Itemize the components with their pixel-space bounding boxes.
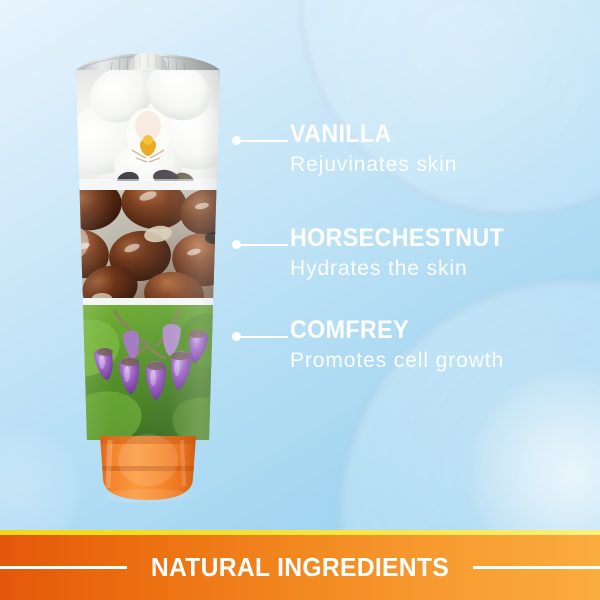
callout-text-vanilla: VANILLA Rejuvinates skin bbox=[290, 122, 457, 178]
callout-title: VANILLA bbox=[290, 122, 446, 148]
callout-desc: Promotes cell growth bbox=[290, 348, 504, 374]
tube-body bbox=[62, 53, 234, 458]
product-tube bbox=[62, 48, 234, 508]
callout-desc: Rejuvinates skin bbox=[290, 152, 457, 178]
bubble-top-right-rim bbox=[300, 0, 600, 215]
callout-text-horsechestnut: HORSECHESTNUT Hydrates the skin bbox=[290, 226, 520, 282]
callout-horsechestnut: HORSECHESTNUT Hydrates the skin bbox=[232, 226, 520, 282]
tube-cap bbox=[100, 434, 196, 503]
ingredients-infographic: VANILLA Rejuvinates skin HORSECHESTNUT H… bbox=[0, 0, 600, 600]
bubble-top-right bbox=[300, 0, 600, 215]
banner-content: NATURAL INGREDIENTS bbox=[0, 535, 600, 600]
callout-vanilla: VANILLA Rejuvinates skin bbox=[232, 122, 457, 178]
banner-title: NATURAL INGREDIENTS bbox=[151, 552, 449, 583]
bottom-banner: NATURAL INGREDIENTS bbox=[0, 530, 600, 600]
callout-connector-vanilla bbox=[232, 122, 290, 164]
banner-rule-left bbox=[0, 566, 127, 569]
callout-line bbox=[240, 140, 288, 143]
callout-line bbox=[240, 244, 288, 247]
callout-connector-horsechestnut bbox=[232, 226, 290, 268]
callout-comfrey: COMFREY Promotes cell growth bbox=[232, 318, 504, 374]
callout-desc: Hydrates the skin bbox=[290, 256, 520, 282]
callout-title: COMFREY bbox=[290, 318, 489, 344]
callout-connector-comfrey bbox=[232, 318, 290, 360]
callout-line bbox=[240, 336, 288, 339]
callout-title: HORSECHESTNUT bbox=[290, 226, 504, 252]
banner-rule-right bbox=[473, 566, 600, 569]
callout-text-comfrey: COMFREY Promotes cell growth bbox=[290, 318, 504, 374]
